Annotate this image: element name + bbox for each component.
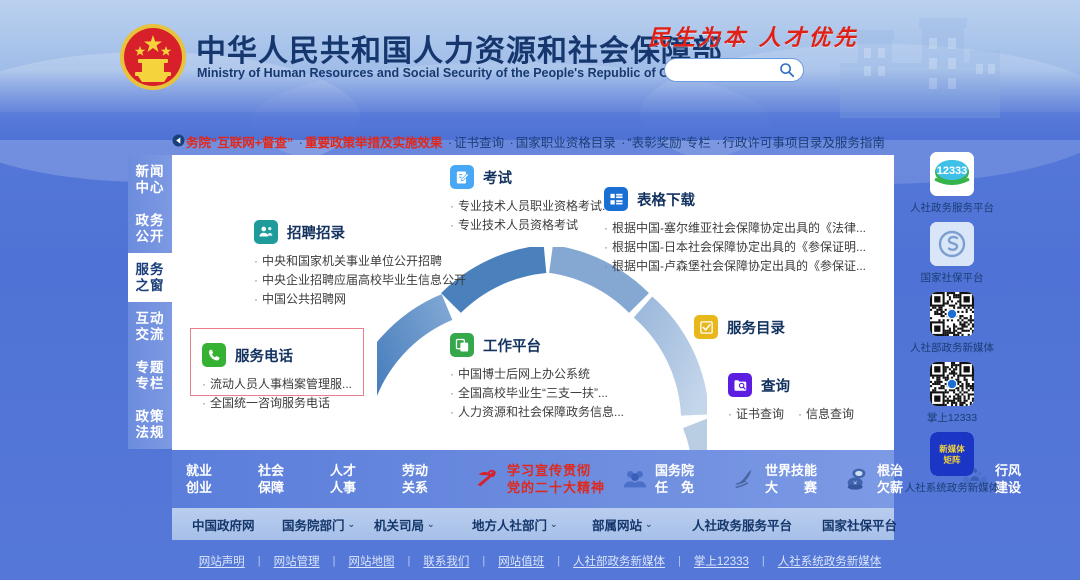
marquee-separator: · [510, 136, 514, 150]
linkbar-item-2[interactable]: 国务院部门⌄ [282, 515, 355, 534]
card-zhaopin: 招聘招录 中央和国家机关事业单位公开招聘 中央企业招聘应届高校毕业生信息公开 中… [254, 220, 466, 309]
site-title-en: Ministry of Human Resources and Social S… [197, 66, 694, 80]
card-header[interactable]: 服务目录 [694, 315, 785, 339]
rail-item-label: 人社政务服务平台 [910, 200, 994, 215]
card-kaoshi: 考试 专业技术人员职业资格考试... 专业技术人员资格考试 [450, 165, 612, 235]
right-sidebar: 12333人社政务服务平台国家社保平台人社部政务新媒体掌上12333新媒体矩阵人… [903, 152, 1001, 502]
card-link[interactable]: 根据中国-日本社会保障协定出具的《参保证明... [604, 238, 866, 257]
linkbar-item-label: 部属网站 [592, 515, 642, 534]
footer-link[interactable]: 网站值班 [498, 553, 544, 569]
card-service-catalog: 服务目录 [694, 315, 785, 339]
marquee-item[interactable]: 国家职业资格目录 [516, 136, 619, 150]
card-title: 工作平台 [483, 335, 541, 356]
marquee-item[interactable]: 务院“互联网+督查” [186, 136, 297, 150]
card-link-list: 中国博士后网上办公系统 全国高校毕业生“三支一扶”... 人力资源和社会保障政务… [450, 365, 624, 422]
linkbar-item-5[interactable]: 部属网站⌄ [592, 515, 653, 534]
coins-icon: ¥ [844, 466, 870, 492]
workplatform-icon [450, 333, 474, 357]
card-title: 招聘招录 [287, 222, 345, 243]
form-download-icon [604, 187, 628, 211]
chevron-down-icon[interactable]: ⌄ [645, 519, 653, 530]
marquee-item[interactable]: “表彰奖励”专栏 [627, 136, 714, 150]
card-link-list: 专业技术人员职业资格考试... 专业技术人员资格考试 [450, 197, 612, 235]
card-title: 服务电话 [235, 345, 293, 366]
card-link[interactable]: 信息查询 [798, 405, 854, 424]
footer-link[interactable]: 人社系统政务新媒体 [778, 553, 882, 569]
marquee-item[interactable]: 重要政策举措及实施效果 [305, 136, 446, 150]
marquee-prev-icon[interactable] [172, 134, 185, 147]
card-header[interactable]: 招聘招录 [254, 220, 466, 244]
linkbar-item-label: 机关司局 [374, 515, 424, 534]
search-box[interactable] [664, 58, 804, 82]
strip-item-label: 根治欠薪 [877, 462, 903, 496]
footer-separator: | [333, 555, 336, 567]
vnav-item-label: 服务 [136, 262, 165, 278]
vnav-item-label: 公开 [136, 229, 165, 245]
card-header[interactable]: 服务电话 [202, 343, 352, 367]
chevron-down-icon[interactable]: ⌄ [427, 519, 435, 530]
linkbar-item-3[interactable]: 机关司局⌄ [374, 515, 435, 534]
si-logo-icon [930, 222, 974, 266]
card-link[interactable]: 证书查询 [728, 405, 784, 424]
vnav-item-label: 专栏 [136, 376, 165, 392]
card-link-list: 根据中国-塞尔维亚社会保障协定出具的《法律... 根据中国-日本社会保障协定出具… [604, 219, 866, 276]
chevron-down-icon[interactable]: ⌄ [348, 519, 356, 530]
linkbar-item-1[interactable]: 中国政府网 [192, 515, 255, 534]
marquee-separator: · [716, 136, 720, 150]
rail-item-label: 国家社保平台 [921, 270, 984, 285]
marquee-separator: · [299, 136, 303, 150]
svg-text:12333: 12333 [937, 165, 968, 177]
feature-strip: 就业创业社会保障人才人事劳动关系学习宣传贯彻党的二十大精神国务院任 免世界技能大… [172, 450, 894, 508]
checklist-icon [694, 315, 718, 339]
card-link[interactable]: 人力资源和社会保障政务信息... [450, 403, 624, 422]
strip-item-2[interactable]: 社会保障 [258, 462, 284, 496]
card-link[interactable]: 中央和国家机关事业单位公开招聘 [254, 252, 466, 271]
vnav-item-2[interactable]: 政务公开 [128, 204, 172, 253]
rail-item-1[interactable]: 12333人社政务服务平台 [903, 152, 1001, 215]
strip-item-4[interactable]: 劳动关系 [402, 462, 428, 496]
footer-link[interactable]: 掌上12333 [694, 553, 749, 569]
linkbar-item-6[interactable]: 人社政务服务平台 [692, 515, 792, 534]
footer-separator: | [482, 555, 485, 567]
strip-item-label: 学习宣传贯彻党的二十大精神 [507, 462, 605, 496]
vnav-item-4[interactable]: 互动交流 [128, 302, 172, 351]
linkbar-item-label: 国务院部门 [282, 515, 345, 534]
national-emblem [118, 22, 188, 92]
linkbar-item-4[interactable]: 地方人社部门⌄ [472, 515, 558, 534]
site-header: 中华人民共和国人力资源和社会保障部 Ministry of Human Reso… [0, 0, 1080, 120]
card-work-platform: 工作平台 中国博士后网上办公系统 全国高校毕业生“三支一扶”... 人力资源和社… [450, 333, 624, 422]
marquee-separator: · [448, 136, 452, 150]
footer-link[interactable]: 联系我们 [423, 553, 469, 569]
card-service-phone: 服务电话 流动人员人事档案管理服... 全国统一咨询服务电话 [202, 343, 352, 413]
card-title: 查询 [761, 375, 790, 396]
footer-separator: | [258, 555, 261, 567]
strip-item-3[interactable]: 人才人事 [330, 462, 356, 496]
site-slogan: 民生为本 人才优先 [648, 20, 859, 52]
linkbar-item-label: 地方人社部门 [472, 515, 547, 534]
vnav-item-label: 专题 [136, 360, 165, 376]
strip-item-label: 就业创业 [186, 462, 212, 496]
strip-item-5[interactable]: 学习宣传贯彻党的二十大精神 [474, 462, 605, 496]
announcement-marquee[interactable]: 务院“互联网+督查” ·重要政策举措及实施效果 ·证书查询 ·国家职业资格目录 … [172, 131, 894, 151]
rail-item-2[interactable]: 国家社保平台 [903, 222, 1001, 285]
card-link[interactable]: 中央企业招聘应届高校毕业生信息公开 [254, 271, 466, 290]
rail-item-4[interactable]: 掌上12333 [903, 362, 1001, 425]
service-window-panel: 招聘招录 中央和国家机关事业单位公开招聘 中央企业招聘应届高校毕业生信息公开 中… [172, 155, 894, 450]
search-icon[interactable] [779, 62, 795, 78]
card-header[interactable]: 查询 [728, 373, 854, 397]
site-title-cn: 中华人民共和国人力资源和社会保障部 [196, 26, 723, 70]
card-link-list: 证书查询 信息查询 [728, 405, 854, 424]
card-header[interactable]: 工作平台 [450, 333, 624, 357]
strip-item-8[interactable]: ¥根治欠薪 [844, 462, 903, 496]
page-root: 中华人民共和国人力资源和社会保障部 Ministry of Human Reso… [0, 0, 1080, 580]
rail-item-5[interactable]: 新媒体矩阵人社系统政务新媒体 [903, 432, 1001, 495]
card-link-list: 中央和国家机关事业单位公开招聘 中央企业招聘应届高校毕业生信息公开 中国公共招聘… [254, 252, 466, 309]
rail-item-label: 人社部政务新媒体 [910, 340, 994, 355]
linkbar-item-label: 中国政府网 [192, 515, 255, 534]
footer-separator: | [678, 555, 681, 567]
skills-icon [732, 466, 758, 492]
footer-separator: | [557, 555, 560, 567]
card-query: 查询 证书查询 信息查询 [728, 373, 854, 424]
svg-text:矩阵: 矩阵 [942, 455, 961, 465]
marquee-separator: · [621, 136, 625, 150]
footer-separator: | [762, 555, 765, 567]
linkbar-item-label: 国家社保平台 [822, 515, 897, 534]
card-link[interactable]: 专业技术人员资格考试 [450, 216, 612, 235]
card-link[interactable]: 全国统一咨询服务电话 [202, 394, 352, 413]
card-link[interactable]: 根据中国-卢森堡社会保障协定出具的《参保证... [604, 257, 866, 276]
card-title: 考试 [483, 167, 512, 188]
card-header[interactable]: 考试 [450, 165, 612, 189]
strip-item-7[interactable]: 世界技能大 赛 [732, 462, 817, 496]
card-link[interactable]: 根据中国-塞尔维亚社会保障协定出具的《法律... [604, 219, 866, 238]
rail-item-label: 人社系统政务新媒体 [905, 480, 1000, 495]
footer-link[interactable]: 网站管理 [274, 553, 320, 569]
phone-icon [202, 343, 226, 367]
vnav-item-label: 政策 [136, 409, 165, 425]
marquee-item[interactable]: 行政许可事项目录及服务指南 [722, 136, 885, 150]
qr-code-icon [930, 362, 974, 406]
strip-item-label: 世界技能大 赛 [765, 462, 817, 496]
vnav-item-1[interactable]: 新闻中心 [128, 155, 172, 204]
new-media-matrix-logo-icon: 新媒体矩阵 [930, 432, 974, 476]
strip-item-label: 国务院任 免 [655, 462, 694, 496]
vnav-item-5[interactable]: 专题专栏 [128, 351, 172, 400]
vnav-item-label: 互动 [136, 311, 165, 327]
exam-icon [450, 165, 474, 189]
chevron-down-icon[interactable]: ⌄ [550, 519, 558, 530]
card-header[interactable]: 表格下载 [604, 187, 866, 211]
vnav-item-label: 法规 [136, 425, 165, 441]
people-icon [622, 466, 648, 492]
rail-item-label: 掌上12333 [927, 410, 977, 425]
vnav-item-label: 之窗 [136, 278, 165, 294]
vnav-item-label: 新闻 [136, 164, 165, 180]
strip-item-6[interactable]: 国务院任 免 [622, 462, 694, 496]
vertical-nav: 新闻中心政务公开服务之窗互动交流专题专栏政策法规 [128, 155, 172, 450]
recruitment-icon [254, 220, 278, 244]
vnav-item-label: 中心 [136, 180, 165, 196]
qr-code-icon [930, 292, 974, 336]
card-link[interactable]: 全国高校毕业生“三支一扶”... [450, 384, 624, 403]
search-folder-icon [728, 373, 752, 397]
rail-item-3[interactable]: 人社部政务新媒体 [903, 292, 1001, 355]
marquee-item[interactable]: 证书查询 [454, 136, 507, 150]
linkbar-item-label: 人社政务服务平台 [692, 515, 792, 534]
vnav-item-6[interactable]: 政策法规 [128, 400, 172, 449]
strip-item-label: 社会保障 [258, 462, 284, 496]
card-link-list: 流动人员人事档案管理服... 全国统一咨询服务电话 [202, 375, 352, 413]
vnav-item-label: 交流 [136, 327, 165, 343]
card-link[interactable]: 专业技术人员职业资格考试... [450, 197, 612, 216]
vnav-item-label: 政务 [136, 213, 165, 229]
card-link[interactable]: 中国公共招聘网 [254, 290, 466, 309]
footer-link[interactable]: 网站声明 [199, 553, 245, 569]
footer-separator: | [407, 555, 410, 567]
card-link[interactable]: 中国博士后网上办公系统 [450, 365, 624, 384]
svg-text:新媒体: 新媒体 [939, 444, 965, 454]
12333-logo-icon: 12333 [930, 152, 974, 196]
strip-item-label: 人才人事 [330, 462, 356, 496]
site-link-bar: 中国政府网国务院部门⌄机关司局⌄地方人社部门⌄部属网站⌄人社政务服务平台国家社保… [172, 508, 894, 540]
linkbar-item-7[interactable]: 国家社保平台 [822, 515, 897, 534]
strip-item-1[interactable]: 就业创业 [186, 462, 212, 496]
card-title: 表格下载 [637, 189, 695, 210]
vnav-item-3[interactable]: 服务之窗 [128, 253, 172, 302]
card-title: 服务目录 [727, 317, 785, 338]
footer-link[interactable]: 人社部政务新媒体 [573, 553, 665, 569]
card-link[interactable]: 流动人员人事档案管理服... [202, 375, 352, 394]
footer-link[interactable]: 网站地图 [348, 553, 394, 569]
marquee-text[interactable]: 务院“互联网+督查” ·重要政策举措及实施效果 ·证书查询 ·国家职业资格目录 … [186, 132, 885, 151]
party-emblem-icon [474, 466, 500, 492]
site-footer: 网站声明|网站管理|网站地图|联系我们|网站值班|人社部政务新媒体|掌上1233… [0, 542, 1080, 580]
card-biaoge: 表格下载 根据中国-塞尔维亚社会保障协定出具的《法律... 根据中国-日本社会保… [604, 187, 866, 276]
strip-item-label: 劳动关系 [402, 462, 428, 496]
